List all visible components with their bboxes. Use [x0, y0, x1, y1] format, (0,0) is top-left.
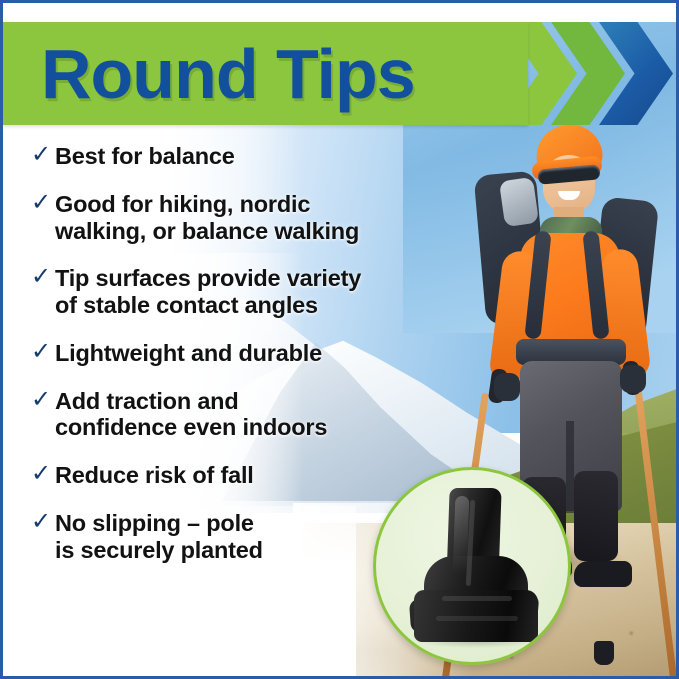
feature-line: Add traction and — [55, 388, 239, 414]
feature-line: confidence even indoors — [55, 414, 327, 440]
feature-text: Good for hiking, nordic walking, or bala… — [55, 191, 359, 245]
pole-tip-highlight — [453, 496, 470, 574]
page-title: Round Tips — [41, 22, 415, 125]
feature-line: Best for balance — [55, 143, 235, 169]
pole-tip-on-ground — [594, 641, 614, 665]
gaiter-right — [574, 471, 618, 561]
feature-line: of stable contact angles — [55, 292, 318, 318]
list-item: ✓ Add traction and confidence even indoo… — [31, 388, 451, 442]
leg-separation — [566, 421, 574, 513]
backpack-gear — [499, 177, 539, 227]
list-item: ✓ Lightweight and durable — [31, 340, 451, 367]
list-item: ✓ Good for hiking, nordic walking, or ba… — [31, 191, 451, 245]
check-icon: ✓ — [31, 510, 53, 535]
feature-line: Tip surfaces provide variety — [55, 265, 361, 291]
pole-tip-groove-upper — [442, 596, 512, 601]
feature-text: Add traction and confidence even indoors — [55, 388, 327, 442]
list-item: ✓ Tip surfaces provide variety of stable… — [31, 265, 451, 319]
feature-line: No slipping – pole — [55, 510, 254, 536]
pole-tip-groove-lower — [436, 616, 518, 621]
feature-text: Lightweight and durable — [55, 340, 322, 367]
check-icon: ✓ — [31, 265, 53, 290]
product-inset-circle — [373, 467, 571, 665]
check-icon: ✓ — [31, 388, 53, 413]
top-white-strip — [3, 3, 676, 22]
list-item: ✓ Best for balance — [31, 143, 451, 170]
feature-line: Lightweight and durable — [55, 340, 322, 366]
check-icon: ✓ — [31, 143, 53, 168]
feature-line: walking, or balance walking — [55, 218, 359, 244]
feature-text: No slipping – pole is securely planted — [55, 510, 263, 564]
list-item: ✓ Reduce risk of fall — [31, 462, 451, 489]
hand-right — [620, 365, 646, 393]
check-icon: ✓ — [31, 340, 53, 365]
feature-text: Reduce risk of fall — [55, 462, 254, 489]
check-icon: ✓ — [31, 191, 53, 216]
feature-line: is securely planted — [55, 537, 263, 563]
feature-text: Tip surfaces provide variety of stable c… — [55, 265, 361, 319]
hand-left — [494, 373, 520, 401]
feature-line: Reduce risk of fall — [55, 462, 254, 488]
check-icon: ✓ — [31, 462, 53, 487]
feature-line: Good for hiking, nordic — [55, 191, 310, 217]
boot-right — [574, 561, 632, 587]
product-infographic: Round Tips ✓ Best for balance ✓ Good for… — [0, 0, 679, 679]
feature-text: Best for balance — [55, 143, 235, 170]
